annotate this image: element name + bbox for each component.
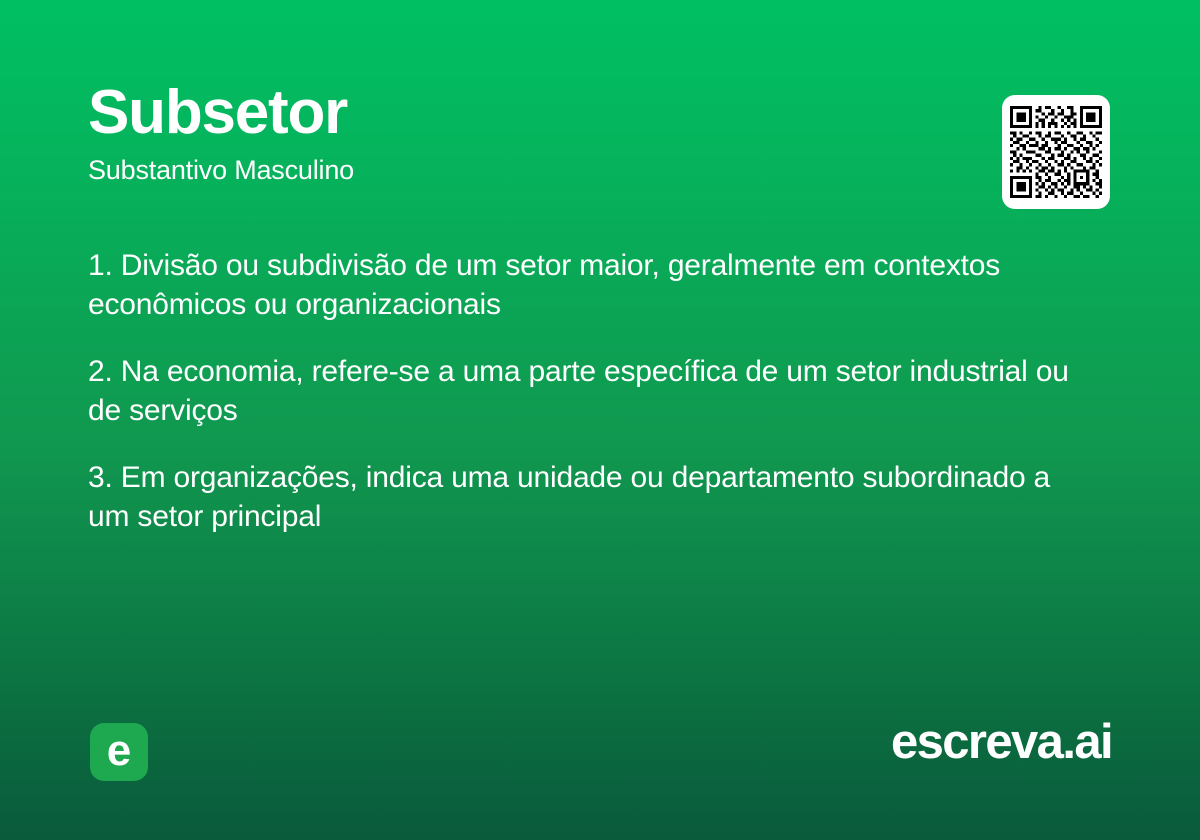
definition-list: 1. Divisão ou subdivisão de um setor mai… bbox=[88, 246, 1073, 536]
headline-block: Subsetor Substantivo Masculino bbox=[88, 82, 948, 186]
definition-item: 1. Divisão ou subdivisão de um setor mai… bbox=[88, 246, 1073, 324]
word-class-label: Substantivo Masculino bbox=[88, 156, 948, 186]
logo-letter: e bbox=[90, 723, 148, 781]
brand-wordmark: escreva.ai bbox=[891, 718, 1112, 767]
escreva-logo-icon: e bbox=[90, 723, 148, 781]
dictionary-card: Subsetor Substantivo Masculino bbox=[0, 0, 1200, 840]
qr-code-icon bbox=[1010, 104, 1102, 200]
qr-code[interactable] bbox=[1002, 95, 1110, 209]
page-title: Subsetor bbox=[88, 82, 948, 144]
definition-item: 2. Na economia, refere-se a uma parte es… bbox=[88, 352, 1073, 430]
definition-item: 3. Em organizações, indica uma unidade o… bbox=[88, 458, 1073, 536]
